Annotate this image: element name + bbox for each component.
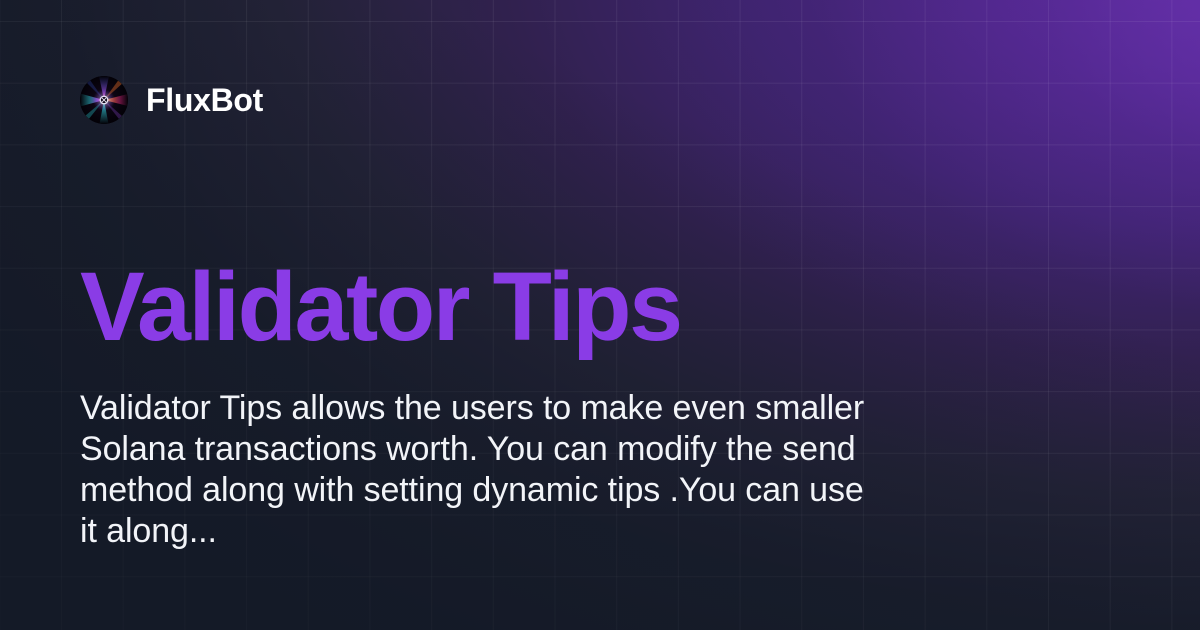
page-title: Validator Tips (80, 256, 681, 358)
brand-name-label: FluxBot (146, 84, 263, 116)
fluxbot-prism-burst-icon (80, 76, 128, 124)
brand-header: FluxBot (80, 76, 263, 124)
og-preview-card: FluxBot Validator Tips Validator Tips al… (0, 0, 1200, 630)
page-description: Validator Tips allows the users to make … (80, 388, 870, 552)
